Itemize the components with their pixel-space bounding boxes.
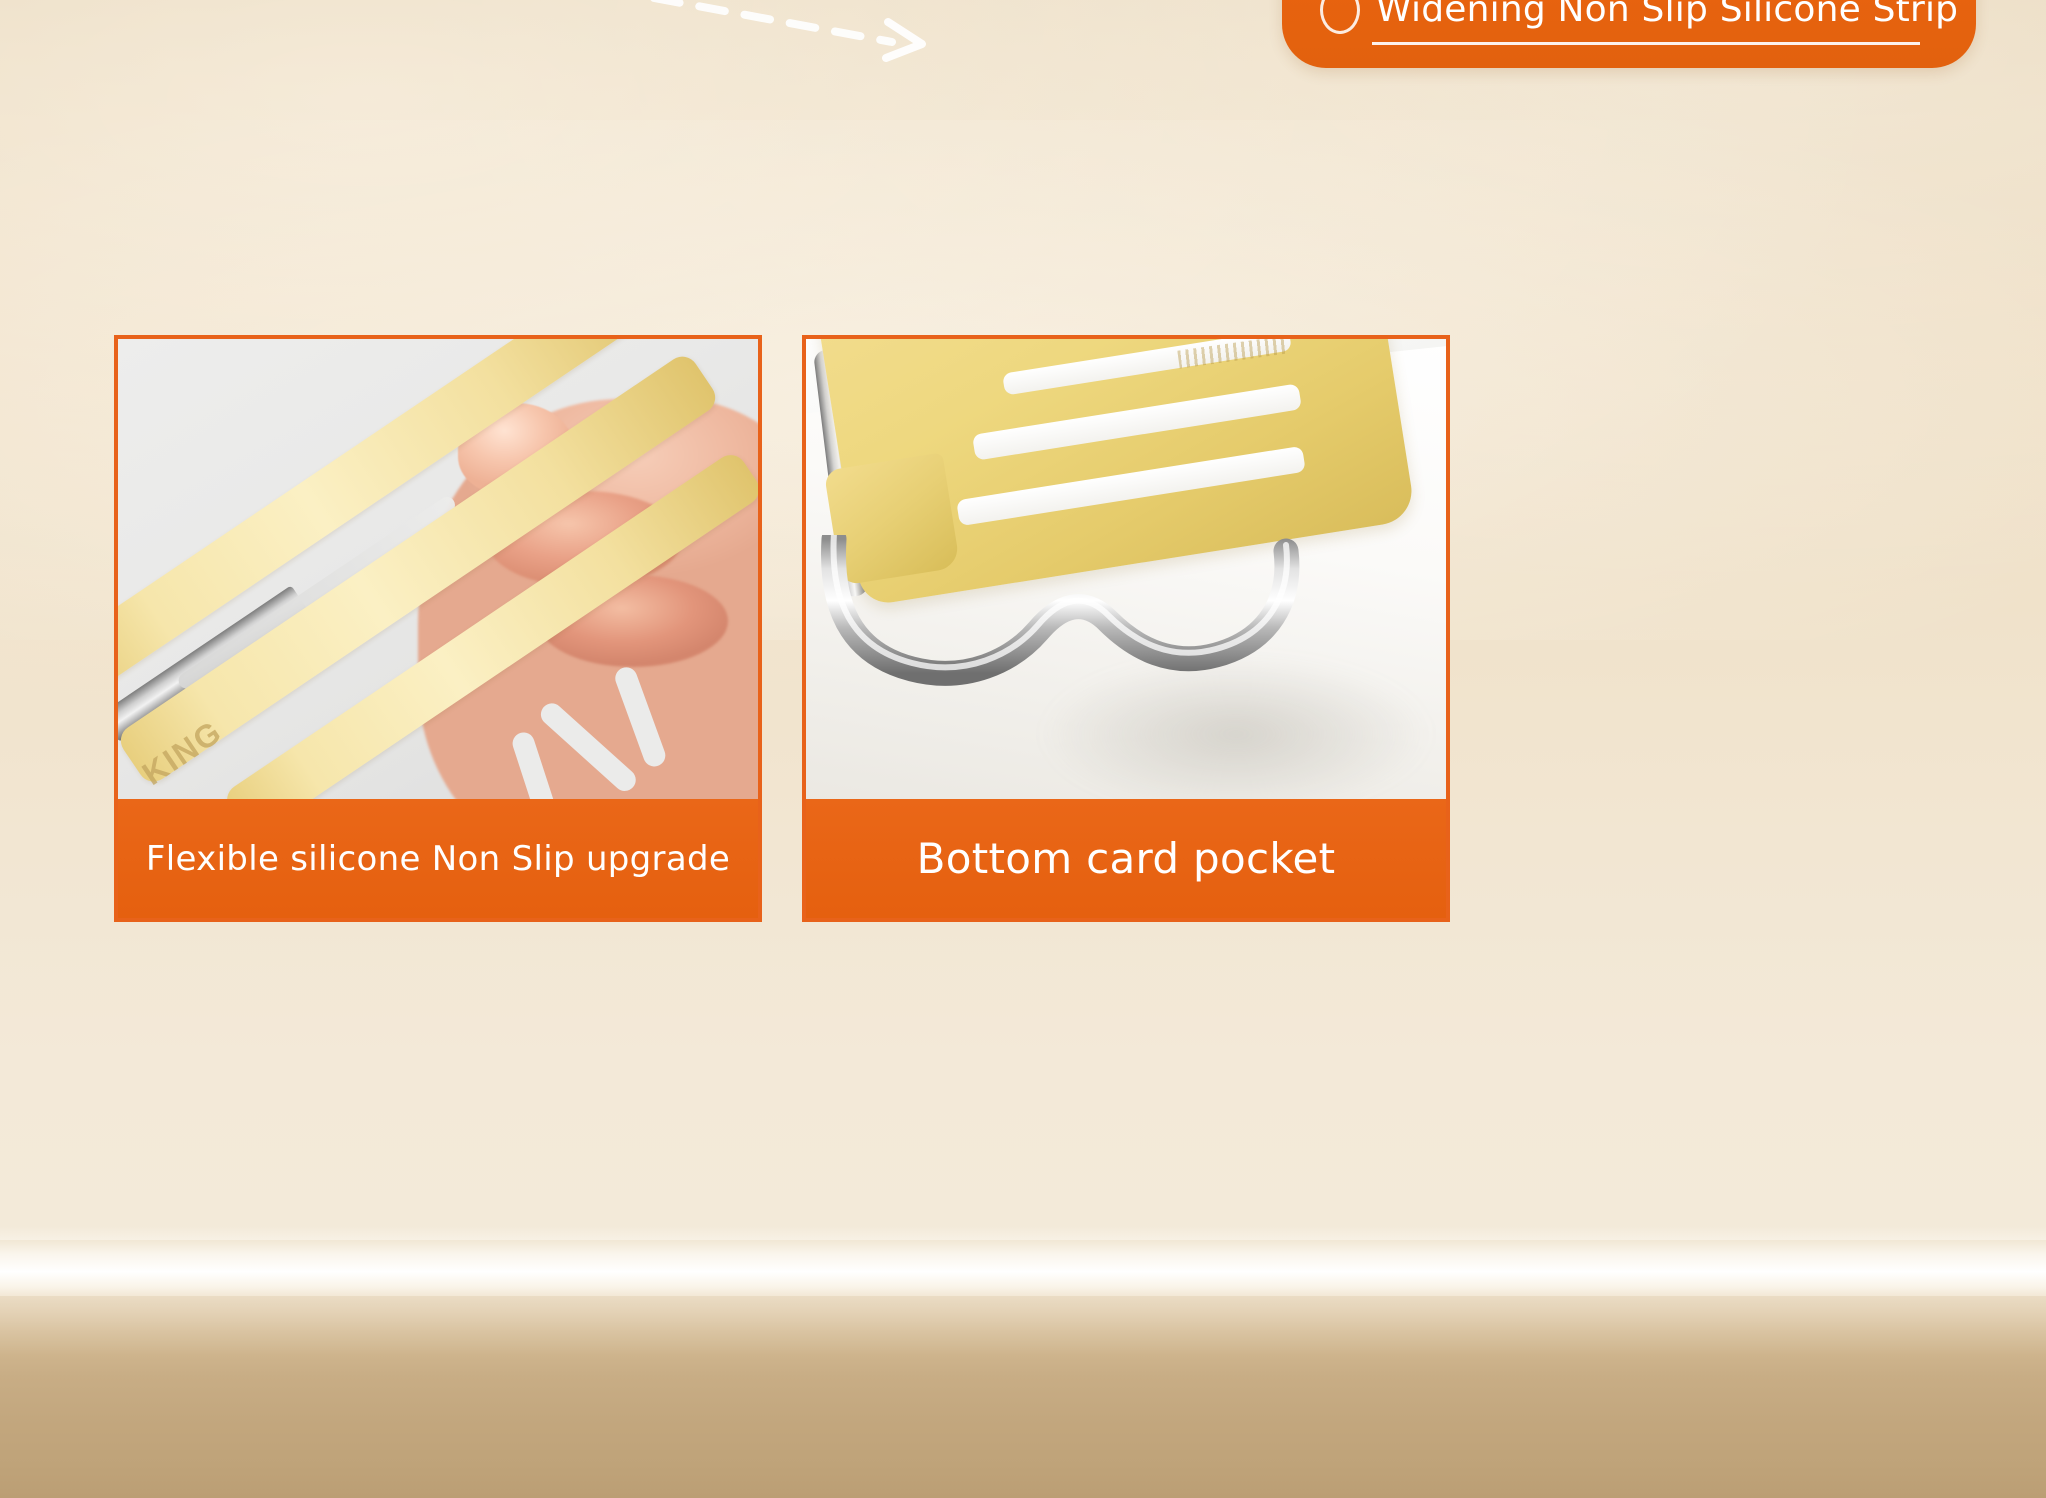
card-caption-bar-right: Bottom card pocket (806, 799, 1446, 918)
card-caption-text-left: Flexible silicone Non Slip upgrade (146, 839, 730, 879)
dashed-pointer-arrow (648, 0, 938, 68)
card-caption-text-right: Bottom card pocket (917, 834, 1336, 883)
card-photo-bottom-card-pocket (806, 339, 1446, 803)
feature-card-bottom-card-pocket[interactable]: Bottom card pocket (802, 335, 1450, 922)
feature-card-flexible-silicone[interactable]: KING Flexible silicone Non Slip upgrade (114, 335, 762, 922)
product-feature-page: 加宽防滑硅胶条 Widening Non Slip Silicone Strip (0, 0, 2046, 1498)
arrow-right-dashed-icon (654, 0, 922, 58)
counter-gloss (0, 1296, 2046, 1356)
card-caption-bar-left: Flexible silicone Non Slip upgrade (118, 799, 758, 918)
bottom-card-pocket-hook (816, 535, 1416, 715)
feature-badge: 加宽防滑硅胶条 Widening Non Slip Silicone Strip (1282, 0, 1976, 68)
badge-label: Widening Non Slip Silicone Strip (1376, 0, 1958, 28)
badge-label-row: Widening Non Slip Silicone Strip (1320, 0, 1958, 34)
circle-bullet-icon (1320, 0, 1360, 34)
card-photo-flexible-silicone: KING (118, 339, 758, 803)
badge-underline (1372, 42, 1920, 45)
